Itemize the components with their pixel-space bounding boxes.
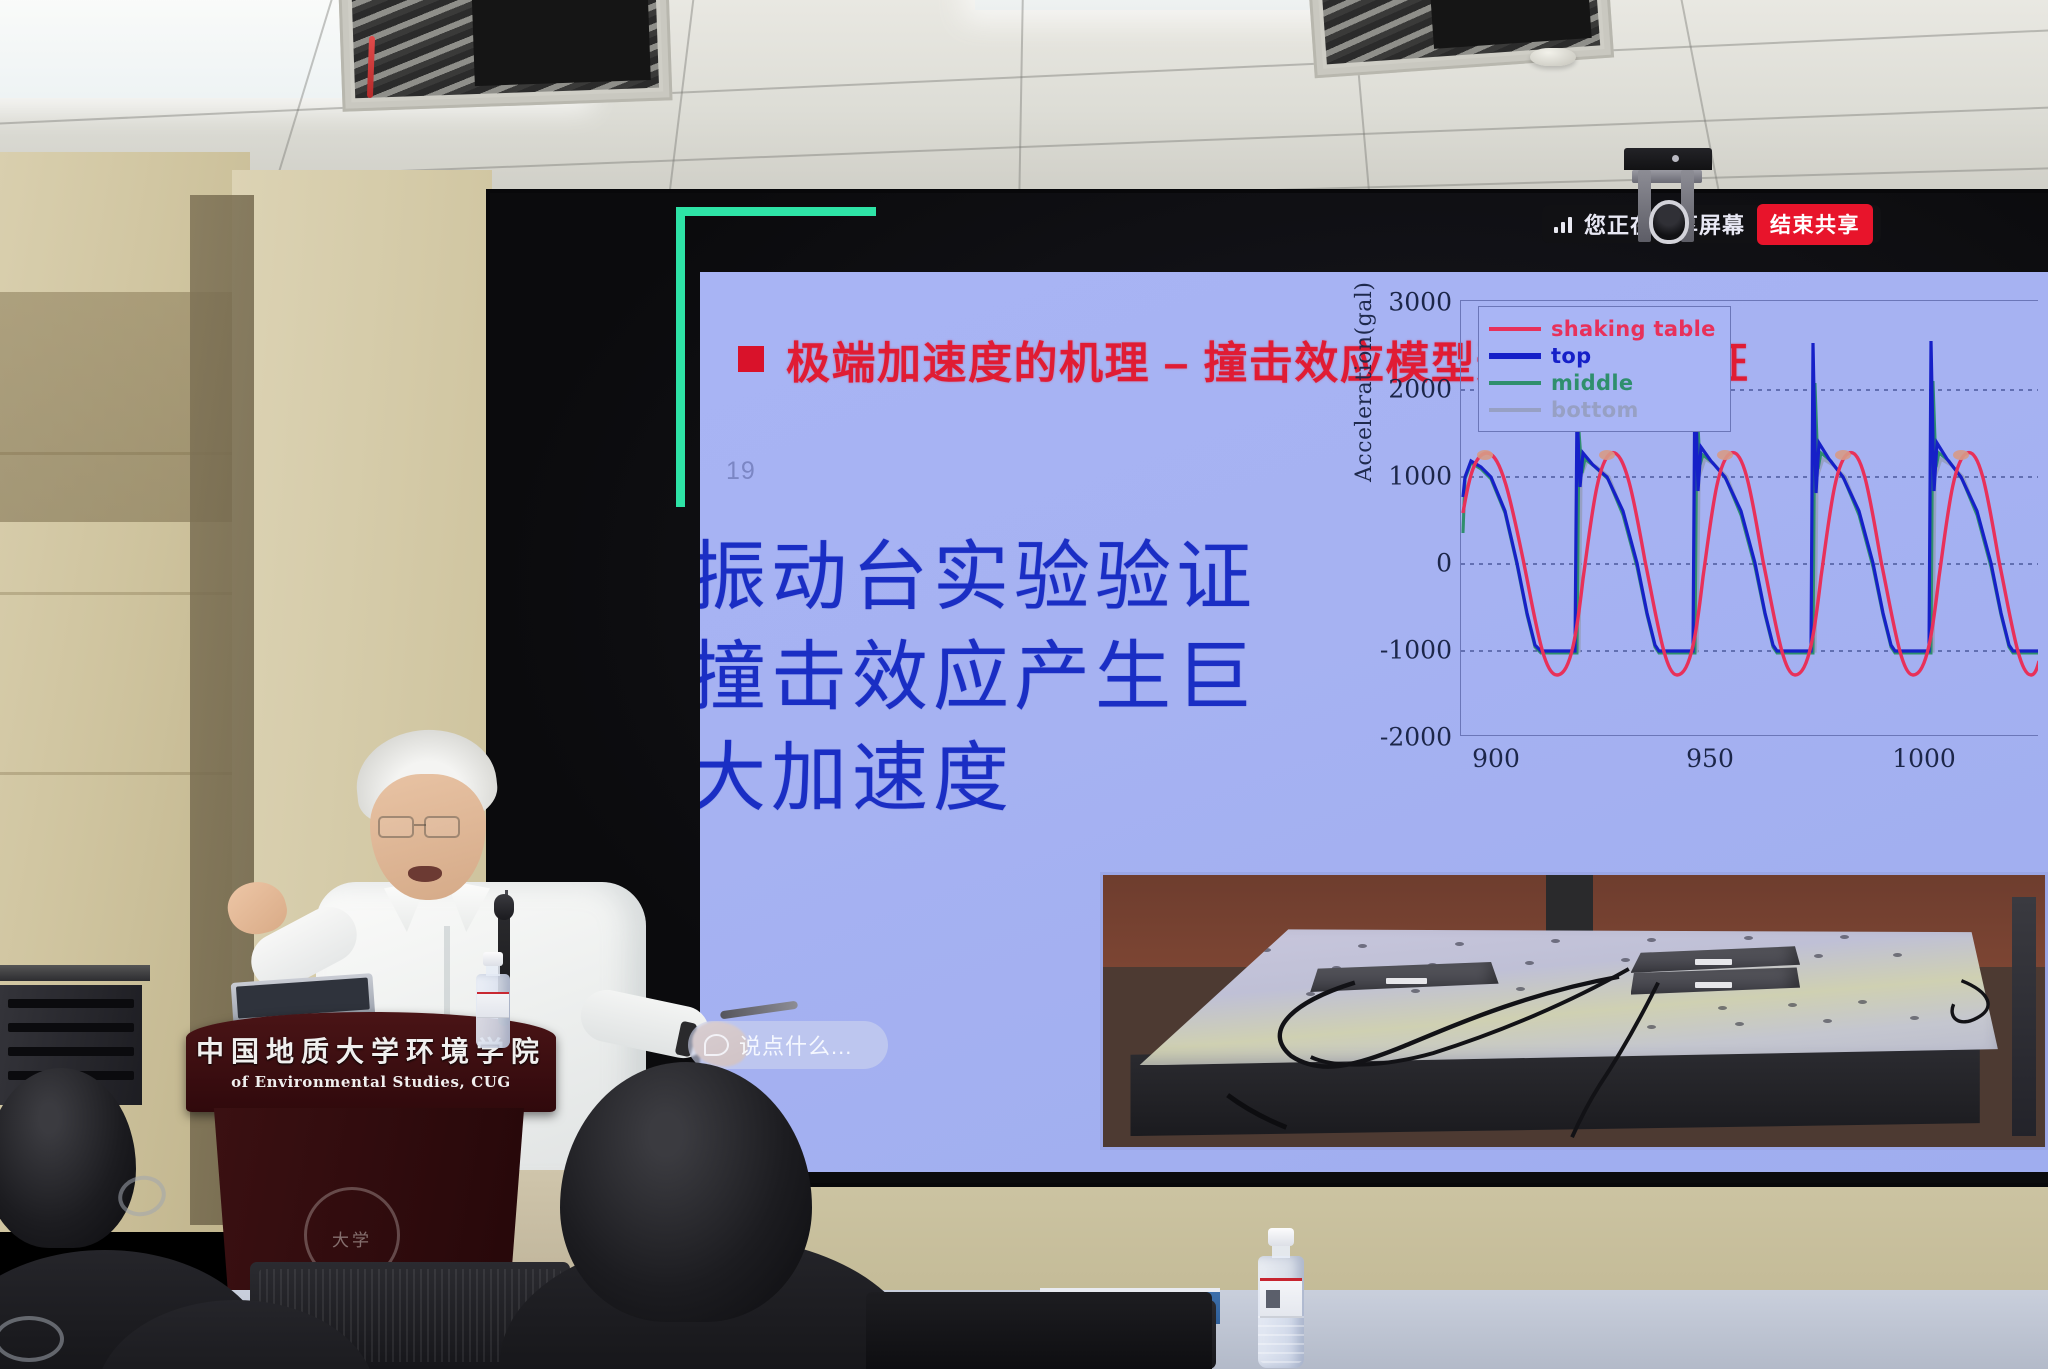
slide-body-line-3: 大加速度 <box>700 728 1310 828</box>
lecture-hall-scene: 19 极端加速度的机理 – 撞击效应模型通过实验验证 振动台实验验证 撞击效应产… <box>0 0 2048 1369</box>
av-rack-slot <box>8 999 134 1008</box>
camera-yoke-left <box>1638 170 1651 242</box>
y-tick: -1000 <box>1380 636 1452 665</box>
x-tick: 900 <box>1472 744 1520 773</box>
y-tick: -2000 <box>1380 723 1452 752</box>
legend-label: shaking table <box>1551 317 1716 341</box>
legend-swatch <box>1489 381 1541 385</box>
legend-label: middle <box>1551 371 1633 395</box>
bottle-ribs <box>1258 1316 1304 1364</box>
legend-entry-bottom: bottom <box>1489 396 1716 423</box>
screen-share-bracket-left <box>676 207 685 507</box>
photo-cables <box>1103 875 2045 1147</box>
desk-monitor <box>866 1292 1212 1369</box>
presenter-mouth <box>408 866 442 882</box>
presenter-glasses-right <box>424 816 460 838</box>
legend-entry-top: top <box>1489 342 1716 369</box>
water-bottle-desk <box>1258 1228 1304 1368</box>
stop-share-button[interactable]: 结束共享 <box>1757 204 1873 245</box>
presenter-glasses-bridge <box>414 824 426 826</box>
chat-bubble-icon <box>704 1034 729 1056</box>
water-bottle-podium <box>476 952 510 1048</box>
legend-entry-shaking-table: shaking table <box>1489 315 1716 342</box>
peak-markers <box>1477 450 1969 460</box>
shaking-table-photo <box>1100 872 2048 1150</box>
bottle-label <box>477 992 509 1018</box>
legend-entry-middle: middle <box>1489 369 1716 396</box>
presentation-slide: 19 极端加速度的机理 – 撞击效应模型通过实验验证 振动台实验验证 撞击效应产… <box>700 272 2048 1172</box>
slide-body-line-1: 振动台实验验证 <box>700 527 1310 627</box>
x-tick: 1000 <box>1892 744 1956 773</box>
legend-label: bottom <box>1551 398 1639 422</box>
av-shelf <box>0 965 150 981</box>
screen-share-bracket-top <box>676 207 876 216</box>
photo-support-rail <box>2012 897 2036 1136</box>
slide-body-text: 振动台实验验证 撞击效应产生巨 大加速度 <box>700 527 1310 828</box>
bottle-label <box>1260 1278 1302 1318</box>
y-tick: 1000 <box>1388 462 1452 491</box>
legend-swatch <box>1489 408 1541 412</box>
legend-label: top <box>1551 344 1591 368</box>
smoke-detector <box>1530 48 1576 66</box>
bottle-cap <box>483 952 503 966</box>
y-tick: 2000 <box>1388 375 1452 404</box>
acceleration-chart: Acceleration(gal) 3000 2000 1000 0 -1000… <box>1360 294 2040 854</box>
bottle-cap <box>1268 1228 1294 1246</box>
av-rack-slot <box>8 1047 134 1056</box>
camera-ceiling-mount <box>1624 148 1712 170</box>
y-tick: 3000 <box>1388 288 1452 317</box>
hvac-diffuser <box>337 0 672 112</box>
ptz-camera <box>1612 148 1724 260</box>
x-tick: 950 <box>1686 744 1734 773</box>
camera-lens <box>1649 200 1689 244</box>
slide-number: 19 <box>726 457 756 486</box>
legend-swatch <box>1489 353 1541 359</box>
microphone-capsule <box>494 894 514 920</box>
x-axis-ticks: 900 950 1000 <box>1460 744 2040 784</box>
hvac-diffuser-2 <box>1306 0 1614 78</box>
chart-legend: shaking table top middle bottom <box>1478 306 1731 432</box>
slide-body-line-2: 撞击效应产生巨 <box>700 627 1310 727</box>
legend-swatch <box>1489 327 1541 331</box>
bullet-square-icon <box>738 346 764 372</box>
institution-name-en: of Environmental Studies, CUG <box>186 1073 556 1091</box>
presenter-glasses-left <box>378 816 414 838</box>
ceiling-grid-line <box>1017 0 1025 200</box>
y-tick: 0 <box>1436 549 1452 578</box>
signal-bars-icon <box>1554 215 1572 233</box>
av-rack-slot <box>8 1023 134 1032</box>
y-axis-ticks: 3000 2000 1000 0 -1000 -2000 <box>1366 294 1452 734</box>
camera-status-led <box>1672 155 1679 162</box>
chat-placeholder: 说点什么... <box>739 1029 852 1061</box>
bottle-neck <box>1272 1244 1290 1258</box>
lectern-seal-text: 大学 <box>307 1226 397 1251</box>
chat-input[interactable]: 说点什么... <box>688 1021 888 1069</box>
